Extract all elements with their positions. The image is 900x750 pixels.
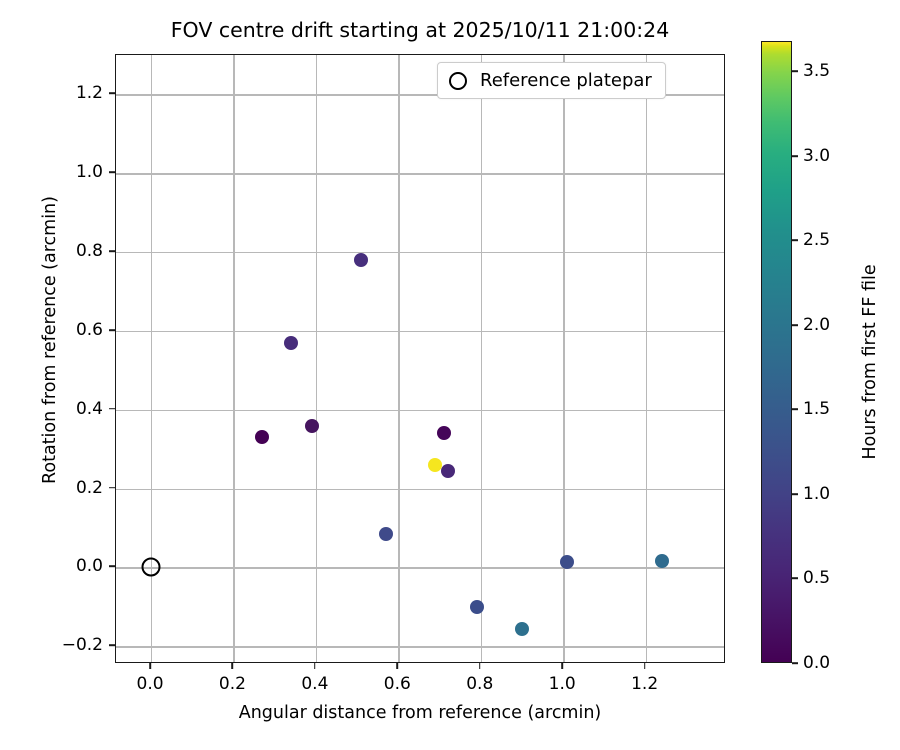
x-tick-label: 1.0 [549, 674, 576, 694]
y-tick-label: 0.4 [19, 399, 103, 419]
gridline-horizontal [116, 567, 724, 568]
y-tick-mark [109, 644, 115, 646]
data-point[interactable] [379, 527, 393, 541]
y-tick-mark [109, 93, 115, 95]
gridline-horizontal [116, 331, 724, 332]
gridline-vertical [646, 55, 647, 662]
y-tick-label: −0.2 [19, 635, 103, 655]
colorbar-tick-mark [792, 155, 798, 157]
x-tick-mark [314, 663, 316, 669]
data-point[interactable] [560, 555, 574, 569]
data-point[interactable] [437, 426, 451, 440]
x-tick-mark [149, 663, 151, 669]
x-tick-label: 0.6 [384, 674, 411, 694]
colorbar-tick-label: 3.0 [803, 146, 830, 166]
data-point[interactable] [255, 430, 269, 444]
y-tick-label: 1.2 [19, 83, 103, 103]
data-point[interactable] [470, 600, 484, 614]
y-axis-label: Rotation from reference (arcmin) [40, 30, 60, 650]
gridline-vertical [316, 55, 317, 662]
x-tick-label: 0.8 [466, 674, 493, 694]
colorbar-tick-mark [792, 324, 798, 326]
data-point[interactable] [284, 336, 298, 350]
colorbar-tick-mark [792, 71, 798, 73]
data-point[interactable] [655, 554, 669, 568]
colorbar-tick-mark [792, 662, 798, 664]
colorbar-tick-label: 1.0 [803, 484, 830, 504]
gridline-vertical [233, 55, 234, 662]
legend-open-circle-icon [449, 72, 467, 90]
colorbar-gradient [761, 41, 792, 663]
x-tick-mark [644, 663, 646, 669]
legend-item-label: Reference platepar [480, 70, 652, 91]
reference-platepar-marker[interactable] [142, 558, 161, 577]
colorbar-tick-mark [792, 578, 798, 580]
colorbar-tick-label: 0.5 [803, 568, 830, 588]
x-tick-label: 0.2 [219, 674, 246, 694]
y-tick-label: 0.2 [19, 478, 103, 498]
y-tick-label: 0.0 [19, 556, 103, 576]
y-tick-label: 1.0 [19, 162, 103, 182]
x-tick-mark [397, 663, 399, 669]
colorbar-tick-label: 1.5 [803, 399, 830, 419]
y-tick-label: 0.8 [19, 241, 103, 261]
data-point[interactable] [305, 419, 319, 433]
data-point[interactable] [354, 253, 368, 267]
colorbar-tick-mark [792, 240, 798, 242]
y-tick-mark [109, 487, 115, 489]
colorbar-tick-label: 3.5 [803, 61, 830, 81]
colorbar-tick-label: 2.5 [803, 230, 830, 250]
data-point[interactable] [441, 464, 455, 478]
y-tick-mark [109, 329, 115, 331]
x-tick-mark [479, 663, 481, 669]
y-tick-label: 0.6 [19, 320, 103, 340]
gridline-vertical [481, 55, 482, 662]
x-axis-label: Angular distance from reference (arcmin) [115, 703, 725, 723]
data-point[interactable] [515, 622, 529, 636]
colorbar-tick-label: 2.0 [803, 315, 830, 335]
x-tick-label: 0.4 [301, 674, 328, 694]
y-tick-mark [109, 171, 115, 173]
gridline-vertical [398, 55, 399, 662]
gridline-horizontal [116, 173, 724, 174]
gridline-horizontal [116, 646, 724, 647]
gridline-horizontal [116, 252, 724, 253]
legend[interactable]: Reference platepar [437, 62, 666, 99]
plot-area[interactable] [115, 54, 725, 663]
page-title: FOV centre drift starting at 2025/10/11 … [115, 18, 725, 42]
x-tick-mark [561, 663, 563, 669]
colorbar[interactable]: 0.00.51.01.52.02.53.03.5 [761, 41, 792, 663]
gridline-vertical [563, 55, 564, 662]
gridline-horizontal [116, 489, 724, 490]
figure-canvas: FOV centre drift starting at 2025/10/11 … [0, 0, 900, 750]
colorbar-label: Hours from first FF file [860, 52, 880, 672]
colorbar-tick-mark [792, 409, 798, 411]
colorbar-tick-mark [792, 493, 798, 495]
y-tick-mark [109, 566, 115, 568]
gridline-horizontal [116, 410, 724, 411]
y-tick-mark [109, 250, 115, 252]
x-tick-mark [232, 663, 234, 669]
x-tick-label: 1.2 [631, 674, 658, 694]
y-tick-mark [109, 408, 115, 410]
x-tick-label: 0.0 [137, 674, 164, 694]
colorbar-tick-label: 0.0 [803, 653, 830, 673]
